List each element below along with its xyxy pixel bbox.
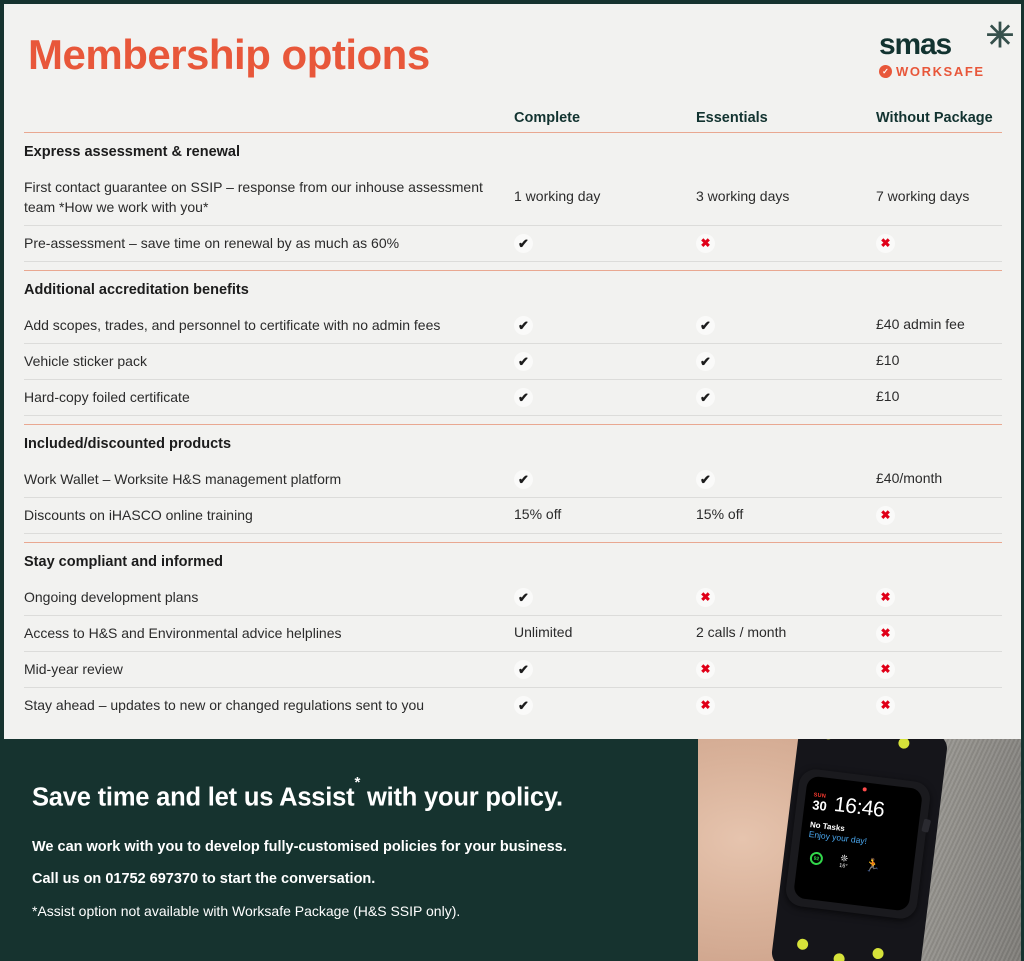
table-header-row: Complete Essentials Without Package [24, 100, 1002, 128]
logo-subwordmark: ✓ WORKSAFE [877, 64, 999, 79]
cta-line-2: Call us on 01752 697370 to start the con… [32, 871, 698, 887]
cta-footnote: *Assist option not available with Worksa… [32, 903, 698, 919]
cta-text-block: Save time and let us Assist* with your p… [4, 739, 698, 961]
check-icon: ✔ [696, 388, 715, 407]
cell-value: £10 [876, 388, 899, 404]
cell-complete: ✔ [514, 588, 696, 607]
cell-complete: ✔ [514, 352, 696, 371]
cell-essentials: 15% off [696, 506, 876, 524]
cell-value: 3 working days [696, 188, 789, 204]
cell-essentials: 3 working days [696, 188, 876, 206]
watch-time: 16:46 [833, 794, 886, 819]
watch-temperature: 16° [838, 863, 847, 870]
check-icon: ✔ [514, 388, 533, 407]
cell-value: £40 admin fee [876, 316, 965, 332]
check-icon: ✔ [696, 470, 715, 489]
cell-value: 15% off [696, 506, 743, 522]
watch-notification-dot-icon [862, 787, 866, 791]
cell-complete: ✔ [514, 234, 696, 253]
logo-worksafe-text: WORKSAFE [896, 64, 985, 79]
cross-icon: ✖ [876, 506, 895, 525]
cell-without: 7 working days [876, 188, 1002, 206]
section-title: Additional accreditation benefits [24, 271, 1002, 308]
cell-complete: 15% off [514, 506, 696, 524]
cell-essentials: ✖ [696, 588, 876, 607]
check-icon: ✔ [514, 352, 533, 371]
feature-label: Pre-assessment – save time on renewal by… [24, 233, 514, 253]
feature-label: Vehicle sticker pack [24, 351, 514, 371]
check-icon: ✔ [514, 660, 533, 679]
table-row: Ongoing development plans✔✖✖ [24, 580, 1002, 615]
check-icon: ✔ [696, 352, 715, 371]
membership-options-page: Membership options smas ✳ ✓ WORKSAFE Com… [0, 0, 1024, 961]
section-title: Express assessment & renewal [24, 133, 1002, 170]
cell-without: £40/month [876, 470, 1002, 488]
cell-complete: ✔ [514, 660, 696, 679]
cell-essentials: ✔ [696, 388, 876, 407]
cell-essentials: 2 calls / month [696, 624, 876, 642]
cell-complete: ✔ [514, 470, 696, 489]
table-row: Add scopes, trades, and personnel to cer… [24, 308, 1002, 343]
cell-value: 15% off [514, 506, 561, 522]
watch-screen: SUN 30 16:46 No Tasks Enjoy your day! 92… [793, 775, 923, 911]
check-icon: ✔ [514, 696, 533, 715]
feature-label: Access to H&S and Environmental advice h… [24, 623, 514, 643]
feature-label: Ongoing development plans [24, 587, 514, 607]
cell-value: £40/month [876, 470, 942, 486]
column-header-essentials: Essentials [696, 110, 876, 126]
feature-label: Mid-year review [24, 659, 514, 679]
cta-heading-part1: Save time and let us Assist [32, 784, 354, 812]
cross-icon: ✖ [876, 624, 895, 643]
cell-without: £40 admin fee [876, 316, 1002, 334]
check-icon: ✔ [696, 316, 715, 335]
cross-icon: ✖ [876, 696, 895, 715]
cell-essentials: ✖ [696, 696, 876, 715]
table-row: Stay ahead – updates to new or changed r… [24, 688, 1002, 723]
table-row: Mid-year review✔✖✖ [24, 652, 1002, 687]
cell-without: ✖ [876, 660, 1002, 679]
asterisk-icon: ✳ [986, 19, 1013, 53]
cross-icon: ✖ [696, 588, 715, 607]
logo-name: smas [879, 28, 951, 61]
cell-essentials: ✔ [696, 352, 876, 371]
cta-heading-asterisk: * [354, 774, 360, 791]
cell-essentials: ✖ [696, 660, 876, 679]
cell-value: Unlimited [514, 624, 572, 640]
cell-without: £10 [876, 388, 1002, 406]
cell-without: ✖ [876, 234, 1002, 253]
cta-heading-part2: with your policy. [360, 784, 563, 812]
cross-icon: ✖ [696, 696, 715, 715]
cell-essentials: ✔ [696, 470, 876, 489]
cell-without: ✖ [876, 624, 1002, 643]
cell-complete: Unlimited [514, 624, 696, 642]
table-row: Pre-assessment – save time on renewal by… [24, 226, 1002, 261]
cross-icon: ✖ [696, 234, 715, 253]
page-title: Membership options [28, 34, 1021, 76]
cell-essentials: ✖ [696, 234, 876, 253]
table-row: First contact guarantee on SSIP – respon… [24, 170, 1002, 225]
column-header-without-package: Without Package [876, 110, 1002, 126]
cell-complete: 1 working day [514, 188, 696, 206]
section-title: Stay compliant and informed [24, 543, 1002, 580]
cell-complete: ✔ [514, 696, 696, 715]
snowflake-icon: ❊ [839, 854, 848, 864]
column-header-complete: Complete [514, 110, 696, 126]
cross-icon: ✖ [876, 234, 895, 253]
cta-footer: Save time and let us Assist* with your p… [4, 739, 1021, 961]
table-row: Access to H&S and Environmental advice h… [24, 616, 1002, 651]
table-sections: Express assessment & renewalFirst contac… [24, 133, 1002, 724]
check-icon: ✔ [514, 234, 533, 253]
section-title: Included/discounted products [24, 425, 1002, 462]
page-header: Membership options smas ✳ ✓ WORKSAFE [4, 4, 1021, 100]
cell-value: 1 working day [514, 188, 600, 204]
watch-time-row: SUN 30 16:46 [811, 792, 913, 823]
cta-line-1: We can work with you to develop fully-cu… [32, 839, 698, 855]
cell-value: 7 working days [876, 188, 969, 204]
check-icon: ✔ [514, 470, 533, 489]
check-circle-icon: ✓ [879, 65, 892, 78]
section-end-divider [24, 261, 1002, 262]
cross-icon: ✖ [876, 588, 895, 607]
cta-heading: Save time and let us Assist* with your p… [32, 783, 698, 813]
feature-label: Stay ahead – updates to new or changed r… [24, 695, 514, 715]
section-end-divider [24, 533, 1002, 534]
cell-without: ✖ [876, 506, 1002, 525]
runner-icon: 🏃 [864, 858, 882, 873]
cross-icon: ✖ [876, 660, 895, 679]
check-icon: ✔ [514, 588, 533, 607]
feature-label: Work Wallet – Worksite H&S management pl… [24, 469, 514, 489]
watch-day-number: 30 [811, 798, 827, 813]
cell-complete: ✔ [514, 388, 696, 407]
smas-worksafe-logo: smas ✳ ✓ WORKSAFE [877, 30, 999, 79]
check-icon: ✔ [514, 316, 533, 335]
table-row: Vehicle sticker pack✔✔£10 [24, 344, 1002, 379]
section-end-divider [24, 415, 1002, 416]
cell-essentials: ✔ [696, 316, 876, 335]
comparison-table: Complete Essentials Without Package Expr… [4, 100, 1021, 739]
watch-complications: 92 ❊ 16° 🏃 [805, 850, 907, 877]
feature-label: Discounts on iHASCO online training [24, 505, 514, 525]
cell-without: ✖ [876, 588, 1002, 607]
cell-value: £10 [876, 352, 899, 368]
cell-value: 2 calls / month [696, 624, 786, 640]
weather-complication: ❊ 16° [838, 854, 848, 870]
smartwatch-photo: SUN 30 16:46 No Tasks Enjoy your day! 92… [698, 739, 1021, 961]
table-row: Discounts on iHASCO online training15% o… [24, 498, 1002, 533]
cell-complete: ✔ [514, 316, 696, 335]
table-row: Work Wallet – Worksite H&S management pl… [24, 462, 1002, 497]
feature-label: First contact guarantee on SSIP – respon… [24, 177, 514, 218]
cell-without: £10 [876, 352, 1002, 370]
table-row: Hard-copy foiled certificate✔✔£10 [24, 380, 1002, 415]
watch-date: SUN 30 [811, 793, 828, 813]
feature-label: Add scopes, trades, and personnel to cer… [24, 315, 514, 335]
feature-label: Hard-copy foiled certificate [24, 387, 514, 407]
cell-without: ✖ [876, 696, 1002, 715]
activity-ring-icon: 92 [809, 851, 823, 865]
cross-icon: ✖ [696, 660, 715, 679]
watch-case: SUN 30 16:46 No Tasks Enjoy your day! 92… [784, 767, 932, 920]
logo-wordmark: smas ✳ [877, 30, 999, 60]
